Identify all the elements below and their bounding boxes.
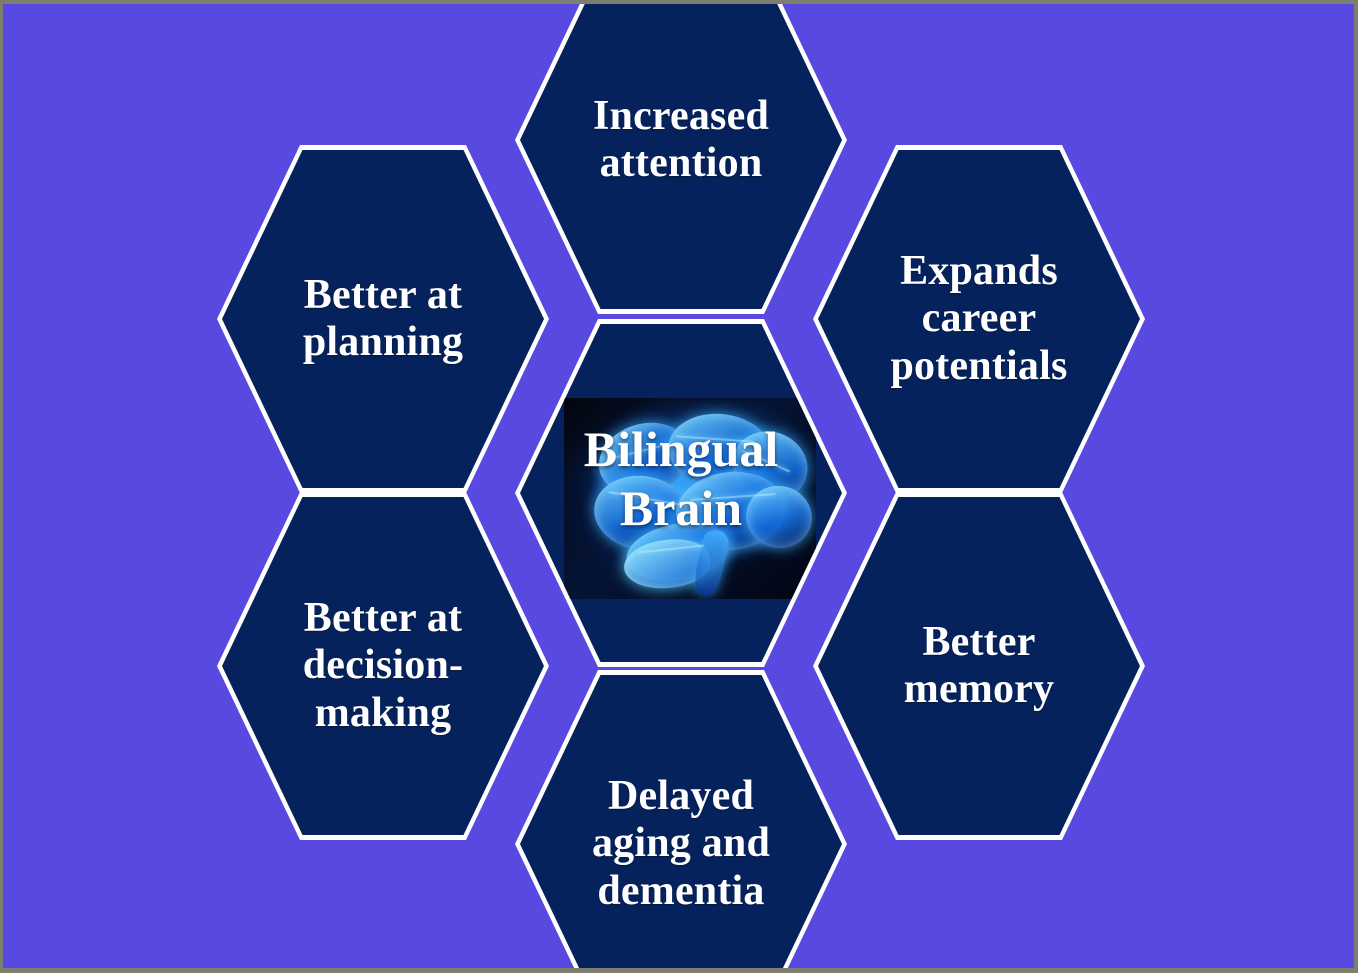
hex-body: Better memory (818, 497, 1140, 835)
hex-node-better-at-planning[interactable]: Better at planning (217, 145, 549, 493)
hex-node-expands-career-potentials[interactable]: Expands career potentials (813, 145, 1145, 493)
hex-label-better-at-decision-making: Better at decision- making (273, 595, 493, 736)
hex-node-better-memory[interactable]: Better memory (813, 492, 1145, 840)
hex-node-delayed-aging-and-dementia[interactable]: Delayed aging and dementia (515, 670, 847, 973)
hex-body: Bilingual Brain (520, 324, 842, 662)
hex-label-increased-attention: Increased attention (563, 93, 799, 187)
center-title-bilingual-brain: Bilingual Brain (520, 420, 842, 538)
hex-label-expands-career-potentials: Expands career potentials (860, 248, 1097, 389)
hex-label-delayed-aging-and-dementia: Delayed aging and dementia (562, 773, 800, 914)
hex-label-better-at-planning: Better at planning (273, 272, 493, 366)
hex-body: Better at planning (222, 150, 544, 488)
hexagon-infographic-canvas: Increased attention Better at planning E… (0, 0, 1358, 973)
hex-body: Delayed aging and dementia (520, 675, 842, 973)
hex-body: Increased attention (520, 0, 842, 309)
hex-node-increased-attention[interactable]: Increased attention (515, 0, 847, 314)
hex-label-better-memory: Better memory (874, 619, 1084, 713)
hex-body: Better at decision- making (222, 497, 544, 835)
hex-node-better-at-decision-making[interactable]: Better at decision- making (217, 492, 549, 840)
hex-node-bilingual-brain-center[interactable]: Bilingual Brain (515, 319, 847, 667)
hex-body: Expands career potentials (818, 150, 1140, 488)
